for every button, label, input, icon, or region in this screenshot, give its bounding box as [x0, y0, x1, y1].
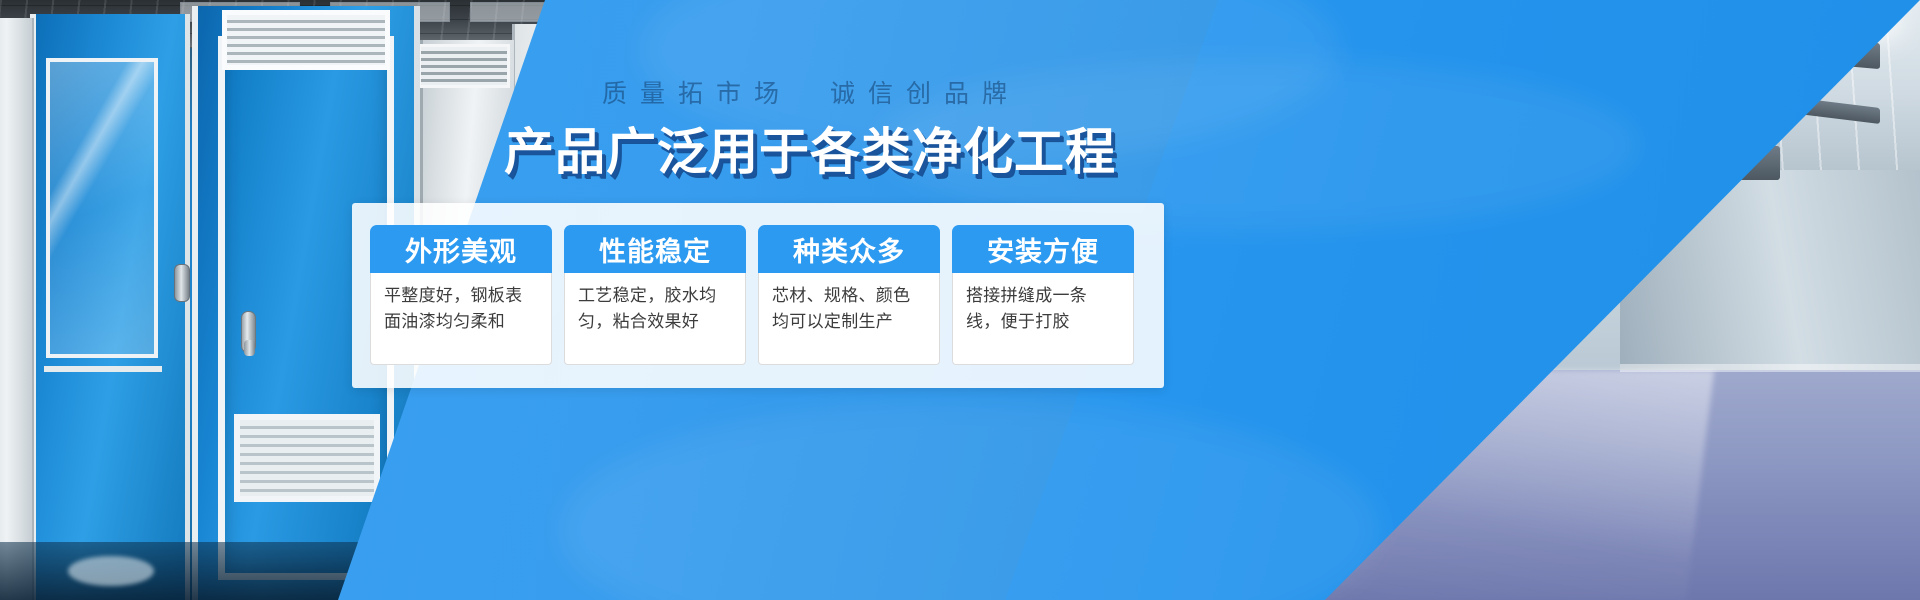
banner-headline: 产品广泛用于各类净化工程: [500, 112, 1120, 184]
feature-card-body: 平整度好，钢板表面油漆均匀柔和: [370, 273, 552, 365]
door-handle-icon: [241, 311, 256, 353]
top-louver-vent: [222, 10, 390, 70]
door-vent-grille: [234, 414, 380, 502]
ground-highlight: [68, 556, 154, 586]
feature-card-title: 种类众多: [758, 225, 940, 273]
cabin-unit-glass: [30, 14, 190, 600]
feature-card-title: 安装方便: [952, 225, 1134, 273]
feature-card[interactable]: 外形美观 平整度好，钢板表面油漆均匀柔和: [370, 225, 552, 365]
feature-card-title: 外形美观: [370, 225, 552, 273]
feature-card[interactable]: 性能稳定 工艺稳定，胶水均匀，粘合效果好: [564, 225, 746, 365]
feature-card-body: 工艺稳定，胶水均匀，粘合效果好: [564, 273, 746, 365]
feature-card[interactable]: 种类众多 芯材、规格、颜色均可以定制生产: [758, 225, 940, 365]
feature-card[interactable]: 安装方便 搭接拼缝成一条线，便于打胶: [952, 225, 1134, 365]
feature-card-title: 性能稳定: [564, 225, 746, 273]
louver-vent-icon: [418, 44, 510, 88]
floor-baseboard: [1620, 364, 1920, 372]
lock-icon: [174, 264, 190, 302]
feature-card-body: 搭接拼缝成一条线，便于打胶: [952, 273, 1134, 365]
feature-card-body: 芯材、规格、颜色均可以定制生产: [758, 273, 940, 365]
banner-subtitle: 质量拓市场 诚信创品牌: [531, 74, 1091, 110]
feature-card-strip: 外形美观 平整度好，钢板表面油漆均匀柔和 性能稳定 工艺稳定，胶水均匀，粘合效果…: [352, 203, 1164, 388]
promo-banner: 质量拓市场 诚信创品牌 产品广泛用于各类净化工程 外形美观 平整度好，钢板表面油…: [0, 0, 1920, 600]
cabin-unit-edge: [0, 18, 34, 600]
cabin-trim: [44, 366, 162, 372]
cabin-window: [46, 58, 158, 358]
